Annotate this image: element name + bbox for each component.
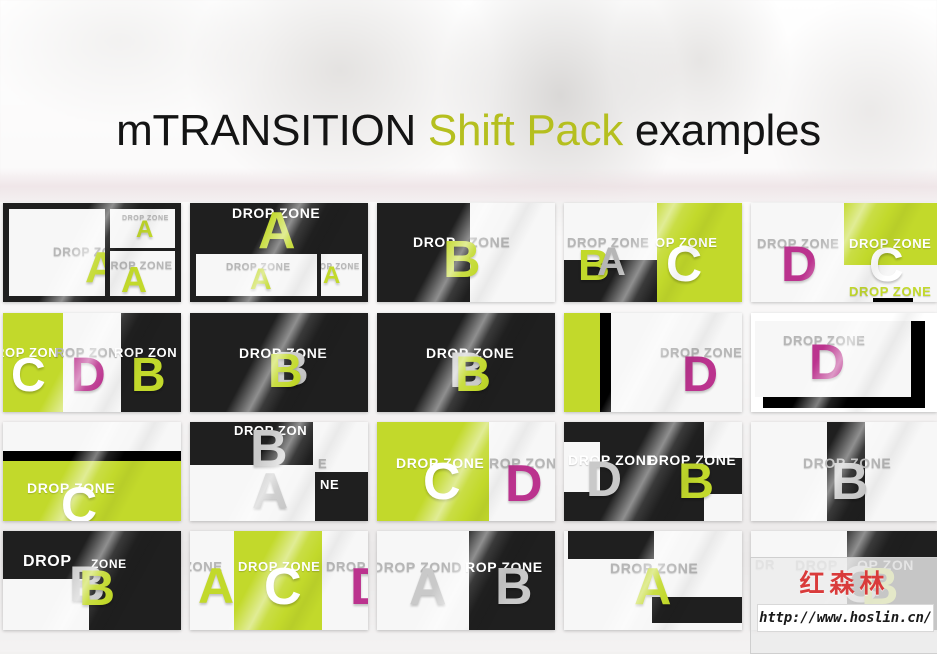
tile-letter: B <box>495 565 533 610</box>
example-tile-r1c2[interactable]: DROP ZONE A DROP ZONE A DROP ZONE A <box>190 203 368 302</box>
pane-black-bar <box>600 313 611 412</box>
tile-letter: A <box>597 245 626 279</box>
example-tile-r4c2[interactable]: ZONE DROP ZONE DROP A C D <box>190 531 368 630</box>
example-tile-r3c4[interactable]: DROP ZONE DROP ZONE D B <box>564 422 742 521</box>
example-tile-r1c5[interactable]: DROP ZONE DROP ZONE D C DROP ZONE <box>751 203 937 302</box>
example-tile-r1c4[interactable]: DROP ZONE OP ZONE B A C <box>564 203 742 302</box>
pane-right-bar <box>911 321 925 408</box>
example-tile-r1c3[interactable]: DROP ZONE B <box>377 203 555 302</box>
example-tile-r3c5[interactable]: DROP ZONE B <box>751 422 937 521</box>
pane-left: DROP ZONE A <box>9 209 105 296</box>
drop-zone-label: E <box>318 456 327 471</box>
example-tile-r4c4[interactable]: DROP ZONE A <box>564 531 742 630</box>
tile-letter: B <box>131 355 166 396</box>
tile-letter: A <box>121 265 147 296</box>
tile-letter: B <box>443 238 481 283</box>
tile-letter: D <box>586 458 622 501</box>
example-tile-r2c2[interactable]: DROP ZONE B B <box>190 313 368 412</box>
tile-letter: C <box>666 243 702 286</box>
tile-letter: B <box>79 567 115 610</box>
tile-letter: D <box>350 565 368 610</box>
tile-letter: A <box>250 267 272 293</box>
title-prefix: mTRANSITION <box>116 106 428 155</box>
tile-letter: D <box>505 462 543 507</box>
tile-letter: A <box>634 565 672 610</box>
pane-bottom-bar <box>763 397 925 408</box>
tile-letter: B <box>831 460 869 505</box>
example-tile-r3c3[interactable]: DROP ZONE ROP ZON C D <box>377 422 555 521</box>
tile-letter: D <box>71 355 106 396</box>
example-tile-r1c1[interactable]: DROP ZONE A DROP ZONE A DROP ZONE A <box>3 203 181 302</box>
example-tile-r2c5[interactable]: DROP ZONE D <box>751 313 937 412</box>
tile-letter: C <box>869 245 904 286</box>
example-tile-r4c3[interactable]: DROP ZOND ROP ZONE A B <box>377 531 555 630</box>
title-accent: Shift Pack <box>428 106 623 155</box>
pane-bottom-left: DROP ZONE A <box>196 254 317 296</box>
drop-zone-label: NE <box>320 477 339 492</box>
tile-letter: A <box>409 565 447 610</box>
tile-letter: A <box>258 209 296 254</box>
pane-bottom-right: DROP ZONE A <box>321 254 362 296</box>
tile-letter: A <box>198 565 234 608</box>
drop-zone-label: DROP ZONE <box>849 284 931 299</box>
tile-letter: C <box>423 460 461 505</box>
tile-letter: D <box>781 243 817 286</box>
tile-letter: A <box>136 220 153 241</box>
title-suffix: examples <box>623 106 821 155</box>
pane-top-right: DROP ZONE A <box>110 209 175 248</box>
pane-stripe <box>3 451 181 461</box>
tile-letter: D <box>809 341 845 384</box>
example-tile-r3c1[interactable]: DROP ZONE C <box>3 422 181 521</box>
tile-letter: B <box>268 351 303 392</box>
tile-letter: C <box>11 355 46 396</box>
pane-green-bar <box>564 313 600 412</box>
pane-accent-bar <box>873 298 913 302</box>
tile-letter: D <box>682 353 718 396</box>
tile-letter: B <box>678 460 714 503</box>
tile-letter: A <box>252 470 288 513</box>
page-title: mTRANSITION Shift Pack examples <box>0 101 937 161</box>
tile-letter: C <box>61 484 97 521</box>
watermark-brand: 红森林 <box>751 564 937 600</box>
pane-top-bar <box>568 531 654 559</box>
tile-letter: C <box>264 565 302 610</box>
example-tile-r4c1[interactable]: DROP ZONE B B <box>3 531 181 630</box>
tile-letter: A <box>85 249 105 287</box>
tile-letter: B <box>455 353 491 396</box>
watermark: 红森林 http://www.hoslin.cn/ <box>750 557 937 654</box>
watermark-url: http://www.hoslin.cn/ <box>757 604 934 632</box>
pane-right <box>470 203 555 302</box>
pane-top <box>3 422 181 451</box>
background-tint-band <box>0 168 937 202</box>
drop-zone-label: DROP <box>23 553 72 571</box>
example-tile-r2c3[interactable]: DROP ZONE B B <box>377 313 555 412</box>
example-tile-r2c4[interactable]: DROP ZONE D <box>564 313 742 412</box>
pane-bottom-right: DROP ZONE A <box>110 251 175 296</box>
pane-right <box>611 313 742 412</box>
example-tile-r2c1[interactable]: ROP ZON ROP ZON ROP ZON C D B <box>3 313 181 412</box>
tile-letter: A <box>323 266 340 287</box>
example-tile-r3c2[interactable]: DROP ZON E NE B A <box>190 422 368 521</box>
